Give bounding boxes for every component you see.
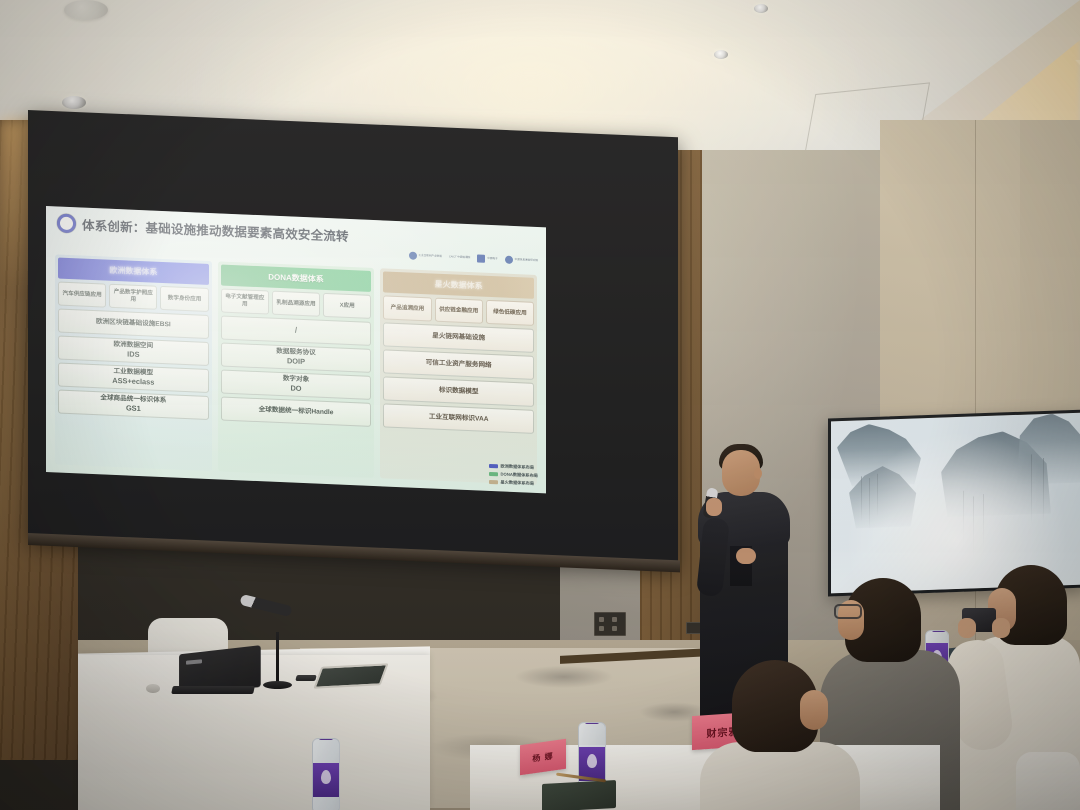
legend-item: 星火数据体系布局 [489,479,538,487]
bottle-cap [585,722,599,724]
logo-mark-icon [505,256,513,264]
layer-main: 欧洲区块链基础设施EBSI [96,318,171,330]
column-header-xinghuo: 星火数据体系 [383,271,534,298]
layer-sub: DOIP [287,357,305,367]
slide-columns: 欧洲数据体系 汽车供应链应用 产品数字护照应用 数字身份应用 欧洲区块链基础设施… [55,254,537,485]
slide-title-text: 体系创新：基础设施推动数据要素高效安全流转 [82,215,349,245]
app-box: 数字身份应用 [160,286,208,312]
water-bottle[interactable] [312,738,340,810]
audience-front-face [800,690,828,730]
microphone-stand [276,632,279,684]
column-xinghuo-apps: 产品追溯应用 供应链金融应用 绿色低碳应用 [383,295,534,325]
partner-logo-text: 中国电子 [487,257,497,260]
logo-mark-icon [409,252,417,260]
audience-photographer-hand [958,618,976,638]
slide-logo-strip: 工业互联网产业联盟 CAICT 中国信通院 中国电子 中国信息通信研究院 [409,252,539,266]
outlet-socket-icon [599,617,604,622]
microphone-icon[interactable] [239,594,292,617]
layer-box: 数字对象 DO [221,369,372,399]
column-header-dona: DONA数据体系 [221,264,372,291]
app-box: X应用 [323,293,371,319]
layer-main: 可信工业资产服务网络 [426,359,492,370]
app-box: 产品数字护照应用 [109,284,157,310]
right-wall-seam [975,120,976,680]
slide-title: 体系创新：基础设施推动数据要素高效安全流转 [57,213,349,244]
wall-outlet-icon [594,612,626,636]
app-box: 电子文献管理应用 [221,288,269,314]
downlight-icon [62,96,86,109]
layer-sub: ASS+eclass [112,376,154,387]
layer-main: 标识数据模型 [439,387,479,397]
layer-box: 全球商品统一标识体系 GS1 [58,390,209,420]
partner-logo: CAICT 中国信通院 [449,256,470,260]
partner-logo-text: 中国信息通信研究院 [515,259,538,263]
column-dona: DONA数据体系 电子文献管理应用 乳制品溯源应用 X应用 / 数据服务协议 D… [218,261,375,478]
layer-main: / [295,325,297,335]
ceiling-speaker-icon [64,0,108,20]
layer-box: 可信工业资产服务网络 [383,349,534,379]
ring-bullet-icon [57,213,76,233]
app-box: 绿色低碳应用 [486,300,534,326]
app-box: 汽车供应链应用 [58,282,106,308]
presentation-clicker[interactable] [295,675,316,681]
presenter-hand [706,498,722,516]
presenter-hand [736,548,756,564]
logo-mark-icon [477,254,485,262]
column-dona-apps: 电子文献管理应用 乳制品溯源应用 X应用 [221,288,372,318]
audience-chair [1016,752,1080,810]
layer-box: 欧洲数据空间 IDS [58,336,209,366]
column-header-europe: 欧洲数据体系 [58,258,209,285]
legend-swatch-icon [489,472,498,476]
microphone-base [263,681,292,689]
layer-sub: GS1 [126,404,141,414]
legend-label: 星火数据体系布局 [501,479,535,486]
layer-main: 工业互联网标识VAA [429,413,489,424]
outlet-socket-icon [612,626,617,631]
app-box: 产品追溯应用 [383,295,431,321]
legend-label: DONA数据体系布局 [501,471,538,479]
downlight-icon [754,4,768,13]
legend-swatch-icon [489,464,498,468]
tablet-device[interactable] [313,663,388,688]
layer-box: 工业互联网标识VAA [383,403,534,433]
audience-photographer-hand [992,618,1010,638]
audience-front-body [700,742,860,810]
partner-logo-text: 工业互联网产业联盟 [419,255,442,259]
bottle-cap [932,630,946,632]
layer-box: 标识数据模型 [383,376,534,406]
layer-main: 全球数据统一标识Handle [259,406,334,418]
partner-logo: 工业互联网产业联盟 [409,252,442,261]
bottle-label [313,763,339,797]
app-box: 供应链金融应用 [435,298,483,324]
notebook [542,780,616,810]
legend-swatch-icon [489,480,498,484]
column-xinghuo: 星火数据体系 产品追溯应用 供应链金融应用 绿色低碳应用 星火链网基础设施 可信… [380,268,537,485]
outlet-socket-icon [599,626,604,631]
conference-room-scene: 体系创新：基础设施推动数据要素高效安全流转 工业互联网产业联盟 CAICT 中国… [0,0,1080,810]
presentation-slide: 体系创新：基础设施推动数据要素高效安全流转 工业互联网产业联盟 CAICT 中国… [46,206,546,493]
layer-box: 星火链网基础设施 [383,322,534,352]
bottle-cap [319,738,333,740]
legend-label: 欧洲数据体系布局 [501,463,535,470]
laptop-keyboard[interactable] [171,686,255,694]
layer-box: 全球数据统一标识Handle [221,396,372,426]
partner-logo-text: CAICT 中国信通院 [449,256,470,260]
column-europe: 欧洲数据体系 汽车供应链应用 产品数字护照应用 数字身份应用 欧洲区块链基础设施… [55,254,212,471]
slide-legend: 欧洲数据体系布局 DONA数据体系布局 星火数据体系布局 [489,463,538,487]
layer-box: 工业数据模型 ASS+eclass [58,363,209,393]
layer-box: 欧洲区块链基础设施EBSI [58,309,209,339]
legend-item: DONA数据体系布局 [489,471,538,479]
app-box: 乳制品溯源应用 [272,291,320,317]
layer-sub: IDS [127,350,139,360]
downlight-icon [714,50,728,59]
column-europe-apps: 汽车供应链应用 产品数字护照应用 数字身份应用 [58,282,209,312]
partner-logo: 中国信息通信研究院 [505,256,538,265]
layer-main: 星火链网基础设施 [432,332,485,343]
partner-logo: 中国电子 [477,254,497,263]
layer-box: 数据服务协议 DOIP [221,342,372,372]
outlet-socket-icon [612,617,617,622]
eyeglasses-icon [834,604,862,619]
layer-sub: DO [290,384,301,394]
layer-box: / [221,315,372,345]
legend-item: 欧洲数据体系布局 [489,463,538,471]
computer-mouse[interactable] [146,684,160,693]
presenter-ear [754,468,762,479]
